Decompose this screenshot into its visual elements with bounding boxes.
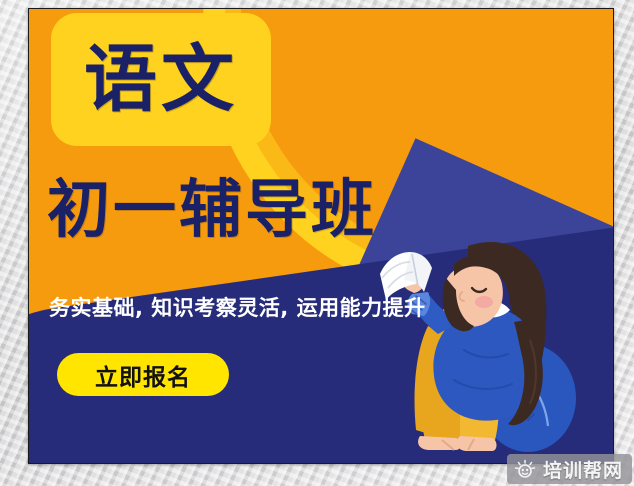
page-title: 初一辅导班 <box>47 177 377 243</box>
woman-reading-illustration <box>376 230 591 455</box>
subject-badge-label: 语文 <box>84 43 238 116</box>
enroll-now-button[interactable]: 立即报名 <box>57 353 229 396</box>
enroll-now-label: 立即报名 <box>95 358 191 392</box>
subtitle-text: 务实基础, 知识考察灵活, 运用能力提升 <box>49 292 426 322</box>
course-promo-poster: 语文 初一辅导班 务实基础, 知识考察灵活, 运用能力提升 立即报名 <box>28 8 614 464</box>
watermark-text: 培训帮网 <box>543 456 623 483</box>
sun-smiley-icon <box>514 459 536 479</box>
watermark-badge: 培训帮网 <box>507 454 632 484</box>
subject-badge: 语文 <box>51 13 271 146</box>
